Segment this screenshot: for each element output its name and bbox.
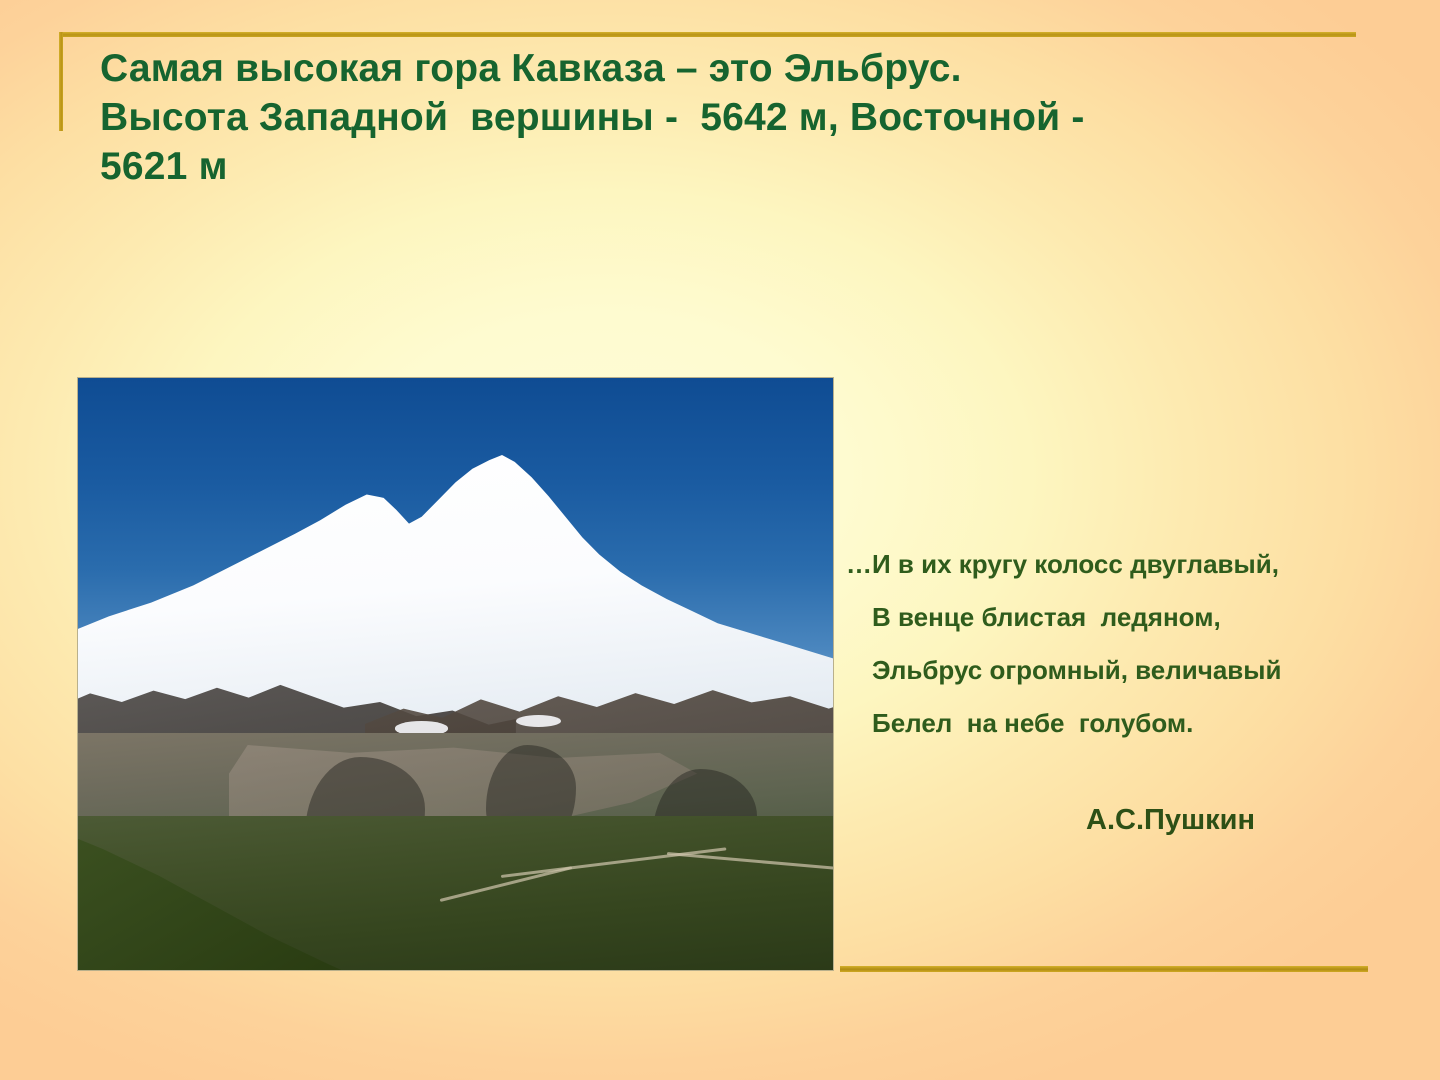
top-gold-rule (59, 32, 1356, 37)
slide-canvas: Самая высокая гора Кавказа – это Эльбрус… (0, 0, 1440, 1080)
poem-author: А.С.Пушкин (1086, 804, 1255, 837)
left-gold-rule (59, 32, 63, 131)
photo-canvas (78, 378, 833, 970)
poem-line-3: Эльбрус огромный, величавый (846, 644, 1366, 697)
poem-line-1: …И в их кругу колосс двуглавый, (846, 538, 1366, 591)
title-line-2: Высота Западной вершины - 5642 м, Восточ… (100, 93, 1280, 142)
title-line-3: 5621 м (100, 142, 1280, 191)
bottom-gold-rule (840, 966, 1368, 972)
elbrus-photo (78, 378, 833, 970)
title-line-1: Самая высокая гора Кавказа – это Эльбрус… (100, 44, 1280, 93)
page-title: Самая высокая гора Кавказа – это Эльбрус… (100, 44, 1280, 191)
poem-line-4: Белел на небе голубом. (846, 697, 1366, 750)
poem-block: …И в их кругу колосс двуглавый, В венце … (846, 538, 1366, 750)
poem-line-2: В венце блистая ледяном, (846, 591, 1366, 644)
